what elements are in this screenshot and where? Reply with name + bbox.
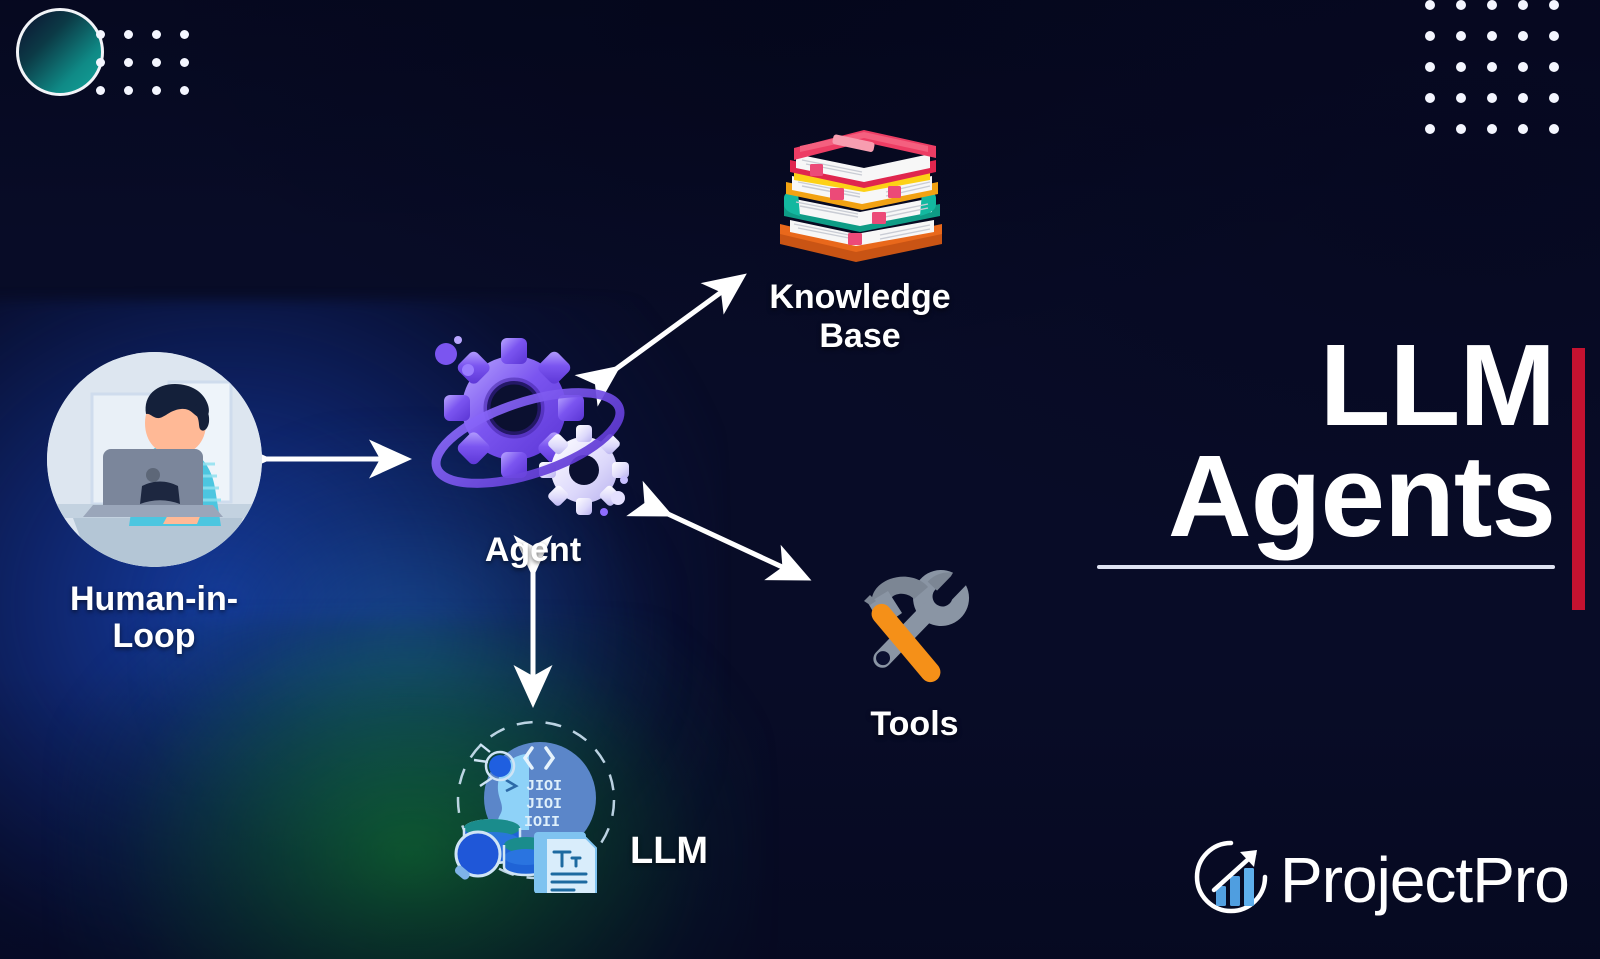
brand-logo[interactable]: ProjectPro <box>1192 838 1569 921</box>
gradient-circle-mark-icon <box>16 8 104 96</box>
dot-grid-left <box>96 30 208 114</box>
node-knowledge-base[interactable]: Knowledge Base <box>745 120 975 356</box>
hammer-and-wrench-icon <box>832 555 997 695</box>
title-line-llm: LLM <box>1085 330 1555 441</box>
projectpro-growth-chart-icon <box>1192 838 1270 921</box>
slide-canvas: Human-in- Loop <box>0 0 1600 959</box>
node-agent[interactable]: Agent <box>418 330 648 570</box>
stack-of-books-icon <box>745 120 975 270</box>
svg-text:JIOI: JIOI <box>526 778 562 795</box>
node-label-knowledge-base: Knowledge Base <box>745 278 975 356</box>
title-line-agents: Agents <box>1085 441 1555 552</box>
node-label-human-in-loop: Human-in- Loop <box>34 581 274 656</box>
brand-name: ProjectPro <box>1280 848 1569 912</box>
svg-text:IOII: IOII <box>524 814 560 831</box>
svg-text:JIOI: JIOI <box>526 796 562 813</box>
person-at-laptop-icon <box>47 352 262 567</box>
dot-grid-right <box>1425 0 1580 155</box>
title-underline <box>1097 565 1555 569</box>
accent-bar-right <box>1572 348 1585 610</box>
node-label-agent: Agent <box>418 531 648 570</box>
node-human-in-loop[interactable]: Human-in- Loop <box>34 352 274 656</box>
node-label-llm: LLM <box>630 830 708 873</box>
gears-orbit-icon <box>418 330 648 535</box>
node-label-tools: Tools <box>832 705 997 744</box>
node-tools[interactable]: Tools <box>832 555 997 744</box>
page-title: LLM Agents <box>1085 330 1555 569</box>
